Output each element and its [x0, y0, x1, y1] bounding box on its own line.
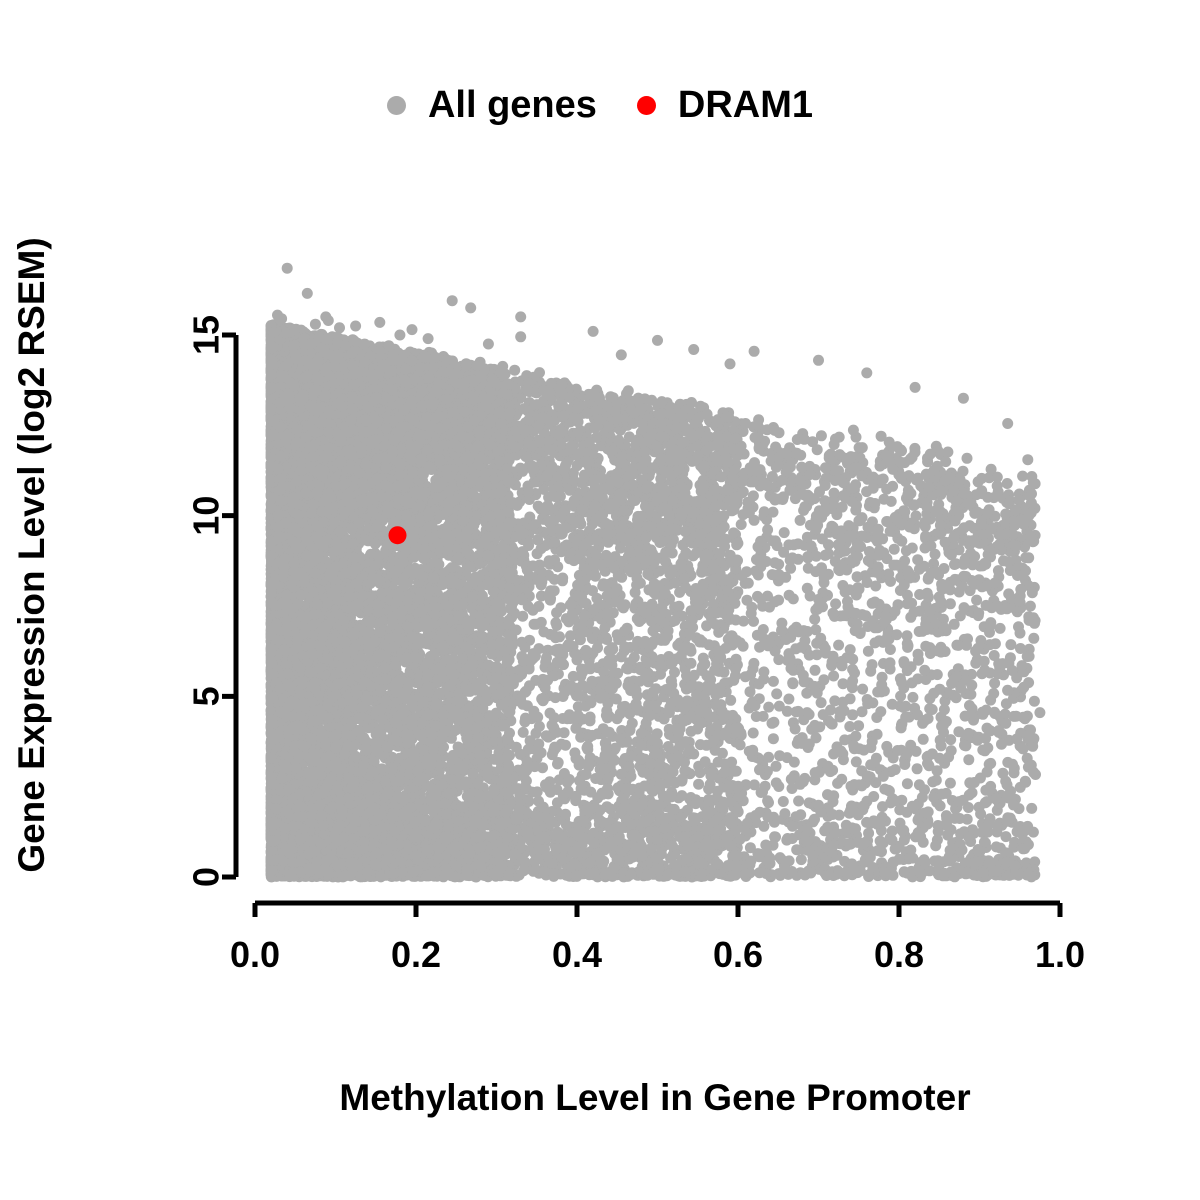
x-axis-line	[255, 903, 1060, 917]
y-tick-label: 0	[186, 867, 227, 887]
y-axis-title: Gene Expression Level (log2 RSEM)	[11, 237, 52, 872]
data-points-layer	[266, 263, 1046, 883]
y-tick-label: 10	[186, 496, 227, 536]
x-tick-label: 1.0	[1035, 934, 1085, 975]
y-tick-label: 15	[186, 315, 227, 355]
x-axis-tick-labels: 0.00.20.40.60.81.0	[230, 934, 1085, 975]
scatter-plot-figure: All genes DRAM1 051015 0.00.20.40.60.81.…	[0, 0, 1200, 1200]
chart-canvas: 051015 0.00.20.40.60.81.0 Methylation Le…	[0, 0, 1200, 1200]
dram1-data-point[interactable]	[389, 526, 407, 544]
y-axis-line	[222, 335, 236, 877]
highlight-point-layer	[389, 526, 407, 544]
x-tick-label: 0.8	[874, 934, 924, 975]
x-tick-label: 0.6	[713, 934, 763, 975]
x-tick-label: 0.2	[391, 934, 441, 975]
y-axis-tick-labels: 051015	[186, 315, 227, 887]
x-tick-label: 0.0	[230, 934, 280, 975]
x-tick-label: 0.4	[552, 934, 602, 975]
x-axis-title: Methylation Level in Gene Promoter	[339, 1077, 970, 1118]
y-tick-label: 5	[186, 686, 227, 706]
